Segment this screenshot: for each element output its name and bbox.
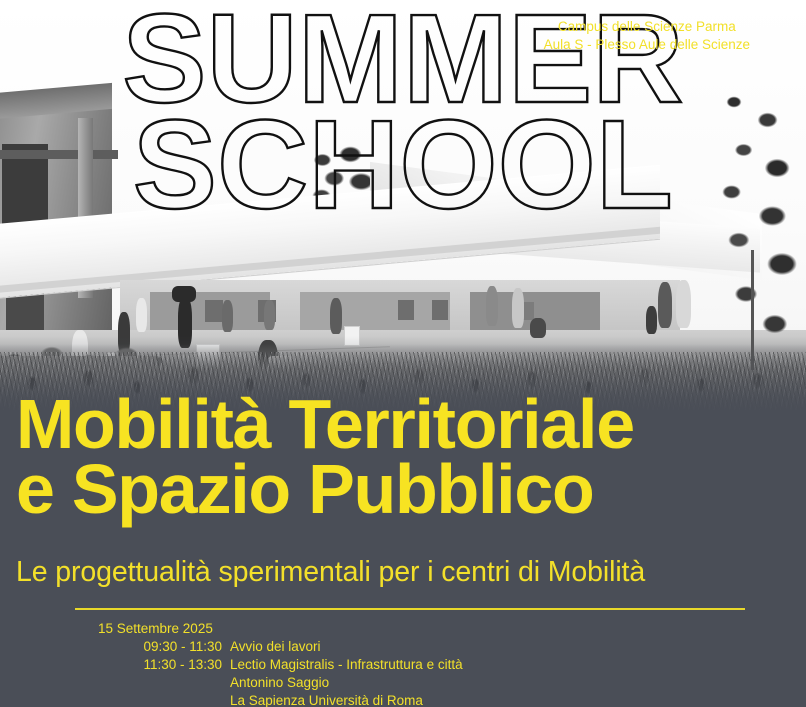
schedule-desc: La Sapienza Università di Roma [222, 692, 423, 707]
schedule-rows: 09:30 - 11:30 Avvio dei lavori 11:30 - 1… [0, 638, 500, 707]
schedule-desc: Antonino Saggio [222, 674, 329, 692]
figure-meadow-6 [646, 306, 657, 334]
venue-block: Campus delle Scienze Parma Aula S - Ples… [544, 18, 750, 54]
figure-meadow-5 [676, 280, 691, 328]
poster-canvas: SUMMER SCHOOL Mobilità Territoriale e Sp… [0, 0, 806, 707]
schedule-time: 09:30 - 11:30 [0, 638, 222, 656]
figure-meadow-4 [658, 282, 672, 328]
schedule-desc: Avvio dei lavori [222, 638, 321, 656]
figure-meadow-1 [486, 286, 498, 326]
schedule-row: 11:30 - 13:30 Lectio Magistralis - Infra… [0, 656, 500, 674]
schedule-date: 15 Settembre 2025 [98, 620, 213, 638]
window-3 [398, 300, 414, 320]
page-subtitle: Le progettualità sperimentali per i cent… [16, 556, 645, 589]
schedule-row: Antonino Saggio [0, 674, 500, 692]
figure-child-carried [172, 286, 196, 302]
figure-meadow-3 [530, 318, 546, 338]
venue-line-2: Aula S - Plesso Aule delle Scienze [544, 36, 750, 54]
title-line-2: e Spazio Pubblico [16, 457, 806, 522]
figure-adult-5 [222, 300, 233, 332]
venue-line-1: Campus delle Scienze Parma [544, 18, 750, 36]
schedule-row: 09:30 - 11:30 Avvio dei lavori [0, 638, 500, 656]
figure-meadow-2 [512, 288, 524, 328]
figure-adult-4 [136, 298, 147, 332]
schedule-time [0, 692, 222, 707]
schedule-time: 11:30 - 13:30 [0, 656, 222, 674]
figure-adult-7 [330, 298, 342, 334]
window-1 [205, 300, 223, 322]
window-4 [432, 300, 448, 320]
schedule-row: La Sapienza Università di Roma [0, 692, 500, 707]
divider-rule [75, 608, 745, 610]
schedule-desc: Lectio Magistralis - Infrastruttura e ci… [222, 656, 463, 674]
heading-line-school: SCHOOL [0, 112, 806, 218]
page-title: Mobilità Territoriale e Spazio Pubblico [16, 392, 806, 522]
figure-adult-6 [264, 300, 275, 330]
schedule-time [0, 674, 222, 692]
